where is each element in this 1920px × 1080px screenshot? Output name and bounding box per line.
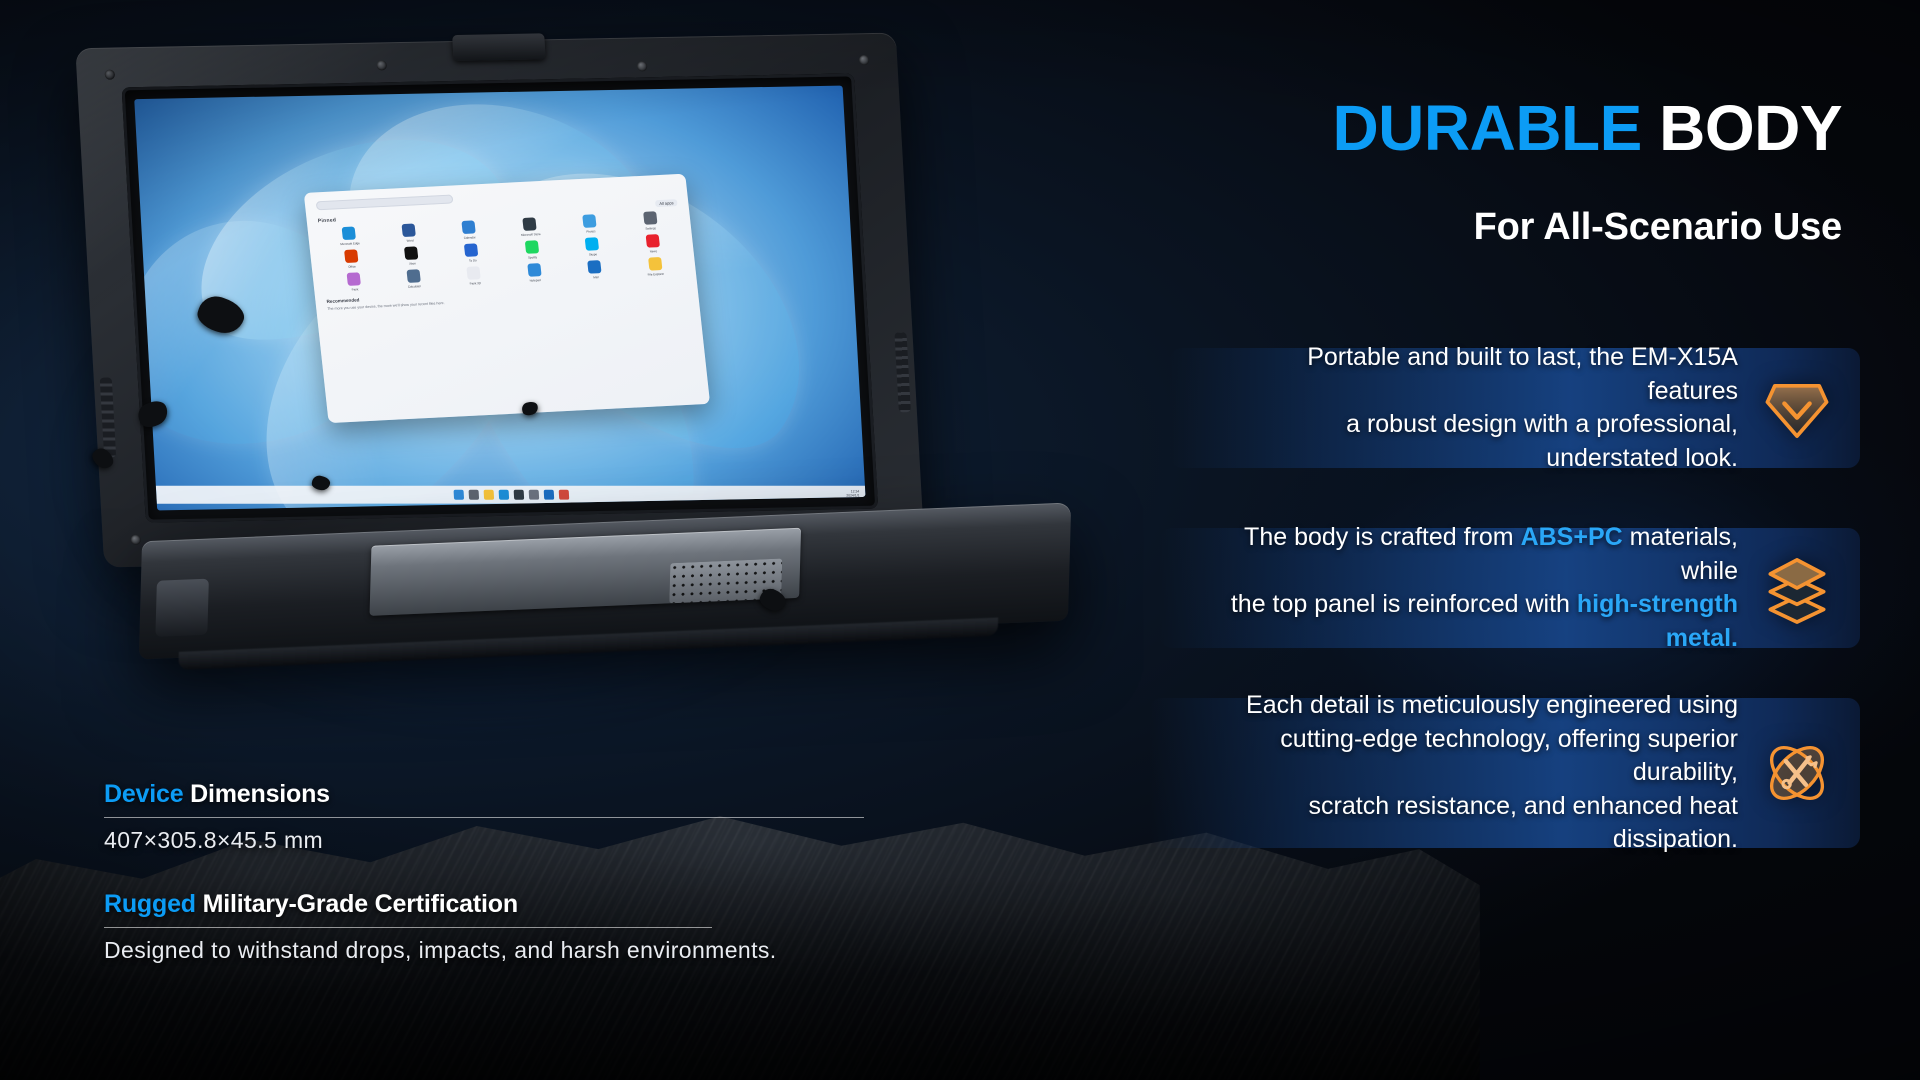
divider xyxy=(104,817,864,818)
feature-line: the top panel is reinforced with high-st… xyxy=(1220,588,1738,655)
feature-line: scratch resistance, and enhanced heat di… xyxy=(1210,790,1738,857)
feature-line: The body is crafted from ABS+PC material… xyxy=(1220,521,1738,588)
feature-card-materials: The body is crafted from ABS+PC material… xyxy=(1160,528,1860,648)
feature-card-text: The body is crafted from ABS+PC material… xyxy=(1220,521,1738,655)
spec-group-certification: Rugged Military-Grade Certification Desi… xyxy=(104,890,864,964)
spec-heading-highlight: Rugged xyxy=(104,890,196,918)
divider xyxy=(104,927,712,928)
feature-line: a robust design with a professional, und… xyxy=(1230,408,1738,475)
highlight-abs-pc: ABS+PC xyxy=(1521,523,1623,551)
spec-group-dimensions: Device Dimensions 407×305.8×45.5 mm xyxy=(104,780,864,854)
feature-card-text: Each detail is meticulously engineered u… xyxy=(1210,689,1738,857)
atom-tools-icon xyxy=(1760,736,1834,810)
highlight-metal: high-strength metal. xyxy=(1577,590,1738,652)
stacked-layers-icon xyxy=(1760,551,1834,625)
feature-card-portability: Portable and built to last, the EM-X15A … xyxy=(1170,348,1860,468)
title-highlight: DURABLE xyxy=(1332,92,1641,164)
text-segment: the top panel is reinforced with xyxy=(1231,590,1577,618)
feature-line: cutting-edge technology, offering superi… xyxy=(1210,723,1738,790)
spec-value: Designed to withstand drops, impacts, an… xyxy=(104,937,864,964)
shield-chevron-icon xyxy=(1760,371,1834,445)
spec-heading-rest: Dimensions xyxy=(183,780,329,808)
spec-heading: Device Dimensions xyxy=(104,780,864,809)
spec-value: 407×305.8×45.5 mm xyxy=(104,827,864,854)
page-subtitle: For All-Scenario Use xyxy=(1474,206,1842,249)
page-title: DURABLE BODY xyxy=(1332,96,1842,160)
text-segment: materials, while xyxy=(1623,523,1738,585)
poster-canvas: Pinned All apps Microsoft EdgeWordCalend… xyxy=(0,0,1920,1080)
title-rest: BODY xyxy=(1642,92,1842,164)
feature-card-engineering: Each detail is meticulously engineered u… xyxy=(1150,698,1860,848)
spec-heading: Rugged Military-Grade Certification xyxy=(104,890,864,919)
spec-heading-highlight: Device xyxy=(104,780,183,808)
spec-heading-rest: Military-Grade Certification xyxy=(196,890,518,918)
specifications-block: Device Dimensions 407×305.8×45.5 mm Rugg… xyxy=(104,780,864,964)
text-segment: The body is crafted from xyxy=(1244,523,1521,551)
feature-line: Portable and built to last, the EM-X15A … xyxy=(1230,341,1738,408)
feature-line: Each detail is meticulously engineered u… xyxy=(1210,689,1738,723)
feature-card-text: Portable and built to last, the EM-X15A … xyxy=(1230,341,1738,475)
